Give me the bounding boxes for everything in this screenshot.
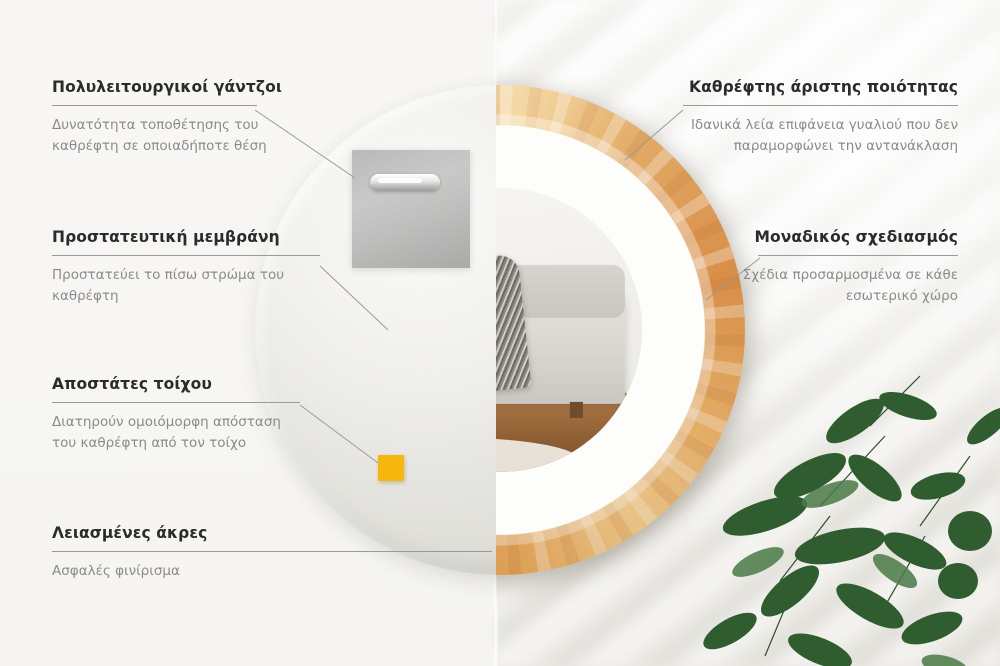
reflected-sofa xyxy=(496,290,625,404)
green-leaves-overlay xyxy=(670,366,1000,666)
sofa-leg-right xyxy=(570,402,583,418)
protective-membrane-patch xyxy=(352,150,470,268)
callout-rule xyxy=(52,255,320,256)
callout-rule xyxy=(52,551,492,552)
callout-smooth-edges: Λειασμένες άκρες Ασφαλές φινίρισμα xyxy=(52,524,304,582)
callout-title: Πολυλειτουργικοί γάντζοι xyxy=(52,78,304,96)
hanging-hook-icon xyxy=(370,174,440,191)
callout-body: Διατηρούν ομοιόμορφη απόσταση του καθρέφ… xyxy=(52,412,304,454)
callout-protective-membrane: Προστατευτική μεμβράνη Προστατεύει το πί… xyxy=(52,228,314,307)
callout-body: Δυνατότητα τοποθέτησης του καθρέφτη σε ο… xyxy=(52,115,304,157)
callout-title: Λειασμένες άκρες xyxy=(52,524,304,542)
callout-rule xyxy=(52,105,257,106)
callout-body: Προστατεύει το πίσω στρώμα του καθρέφτη xyxy=(52,265,314,307)
callout-title: Προστατευτική μεμβράνη xyxy=(52,228,314,246)
callout-rule xyxy=(683,105,958,106)
callout-title: Μοναδικός σχεδιασμός xyxy=(696,228,958,246)
callout-title: Καθρέφτης άριστης ποιότητας xyxy=(668,78,958,96)
mirror-glass-reflection xyxy=(496,188,642,472)
callout-rule xyxy=(52,402,300,403)
callout-body: Ιδανικά λεία επιφάνεια γυαλιού που δεν π… xyxy=(668,115,958,157)
infographic-canvas: Πολυλειτουργικοί γάντζοι Δυνατότητα τοπο… xyxy=(0,0,1000,666)
callout-rule xyxy=(758,255,958,256)
callout-body: Σχέδια προσαρμοσμένα σε κάθε εσωτερικό χ… xyxy=(696,265,958,307)
callout-unique-design: Μοναδικός σχεδιασμός Σχέδια προσαρμοσμέν… xyxy=(696,228,958,307)
wall-spacer-block xyxy=(378,455,404,481)
callout-wall-spacers: Αποστάτες τοίχου Διατηρούν ομοιόμορφη απ… xyxy=(52,375,304,454)
callout-title: Αποστάτες τοίχου xyxy=(52,375,304,393)
callout-multifunctional-hooks: Πολυλειτουργικοί γάντζοι Δυνατότητα τοπο… xyxy=(52,78,304,157)
callout-body: Ασφαλές φινίρισμα xyxy=(52,561,304,582)
foliage-icon xyxy=(670,366,1000,666)
callout-top-quality-mirror: Καθρέφτης άριστης ποιότητας Ιδανικά λεία… xyxy=(668,78,958,157)
